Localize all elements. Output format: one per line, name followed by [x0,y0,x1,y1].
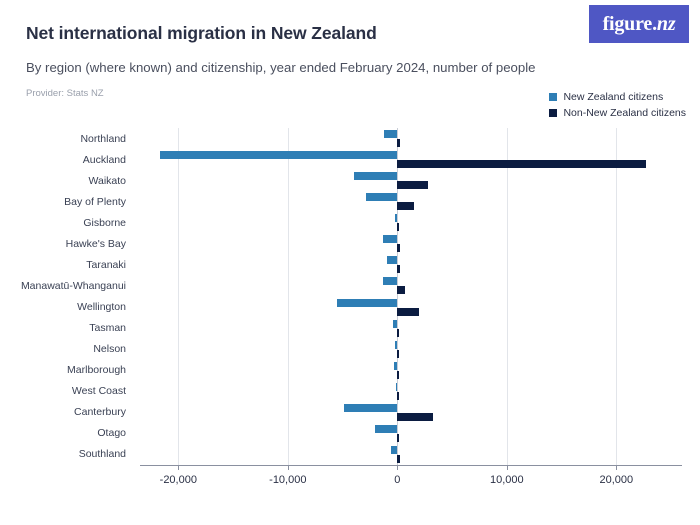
bar-marlborough-s0[interactable] [394,362,397,370]
gridline [288,128,289,465]
page-subtitle: By region (where known) and citizenship,… [26,60,535,75]
category-label-hawke-s-bay: Hawke's Bay [66,238,126,250]
legend-item-label: Non-New Zealand citizens [563,107,686,119]
bar-gisborne-s0[interactable] [395,214,398,222]
bar-bay-of-plenty-s1[interactable] [397,202,413,210]
bar-canterbury-s0[interactable] [344,404,398,412]
gridline [178,128,179,465]
category-label-nelson: Nelson [93,343,126,355]
logo-text: figure.nz [603,13,676,36]
bar-waikato-s0[interactable] [354,172,398,180]
bar-taranaki-s0[interactable] [387,256,397,264]
x-axis-tick-label: 0 [394,474,400,486]
bar-nelson-s1[interactable] [397,350,399,358]
bar-southland-s0[interactable] [391,446,398,454]
x-axis-tick-label: -10,000 [269,474,306,486]
bar-waikato-s1[interactable] [397,181,428,189]
category-axis-labels: NorthlandAucklandWaikatoBay of PlentyGis… [0,128,132,465]
bar-manawat-whanganui-s1[interactable] [397,286,405,294]
chart-legend: New Zealand citizensNon-New Zealand citi… [549,91,686,119]
bar-wellington-s1[interactable] [397,308,419,316]
bar-southland-s1[interactable] [397,455,399,463]
gridline [616,128,617,465]
gridline [507,128,508,465]
legend-item-label: New Zealand citizens [563,91,663,103]
legend-item[interactable]: New Zealand citizens [549,91,663,103]
provider-label: Provider: Stats NZ [26,88,104,99]
chart-plot-area: -20,000-10,000010,00020,000 [140,128,682,465]
category-label-waikato: Waikato [88,175,126,187]
category-label-marlborough: Marlborough [67,364,126,376]
bar-canterbury-s1[interactable] [397,413,433,421]
category-label-auckland: Auckland [83,154,126,166]
bar-bay-of-plenty-s0[interactable] [366,193,398,201]
category-label-taranaki: Taranaki [86,259,126,271]
bar-tasman-s0[interactable] [393,320,397,328]
bar-northland-s0[interactable] [384,130,398,138]
category-label-west-coast: West Coast [72,385,126,397]
x-axis-tick-label: 10,000 [490,474,524,486]
bar-wellington-s0[interactable] [337,299,397,307]
bar-auckland-s1[interactable] [397,160,646,168]
bar-hawke-s-bay-s0[interactable] [383,235,397,243]
page-title: Net international migration in New Zeala… [26,23,377,44]
legend-swatch-icon [549,109,557,117]
bar-tasman-s1[interactable] [397,329,399,337]
figurenz-logo: figure.nz [589,5,689,43]
bar-otago-s1[interactable] [397,434,399,442]
bar-otago-s0[interactable] [375,425,397,433]
x-axis-tick-label: -20,000 [160,474,197,486]
x-axis-line [140,465,682,466]
legend-swatch-icon [549,93,557,101]
category-label-northland: Northland [80,133,126,145]
bar-west-coast-s0[interactable] [396,383,398,391]
bar-west-coast-s1[interactable] [397,392,399,400]
category-label-manawat-whanganui: Manawatū-Whanganui [21,280,126,292]
category-label-tasman: Tasman [89,322,126,334]
category-label-gisborne: Gisborne [83,217,126,229]
category-label-otago: Otago [97,427,126,439]
bar-auckland-s0[interactable] [160,151,398,159]
bar-gisborne-s1[interactable] [397,223,399,231]
bar-nelson-s0[interactable] [395,341,398,349]
category-label-bay-of-plenty: Bay of Plenty [64,196,126,208]
bar-marlborough-s1[interactable] [397,371,399,379]
bar-northland-s1[interactable] [397,139,399,147]
category-label-southland: Southland [79,448,126,460]
bar-taranaki-s1[interactable] [397,265,399,273]
category-label-canterbury: Canterbury [74,406,126,418]
chart-page: figure.nz Net international migration in… [0,0,700,525]
bar-manawat-whanganui-s0[interactable] [383,277,397,285]
category-label-wellington: Wellington [77,301,126,313]
x-axis-tick-label: 20,000 [599,474,633,486]
legend-item[interactable]: Non-New Zealand citizens [549,107,686,119]
bar-hawke-s-bay-s1[interactable] [397,244,400,252]
